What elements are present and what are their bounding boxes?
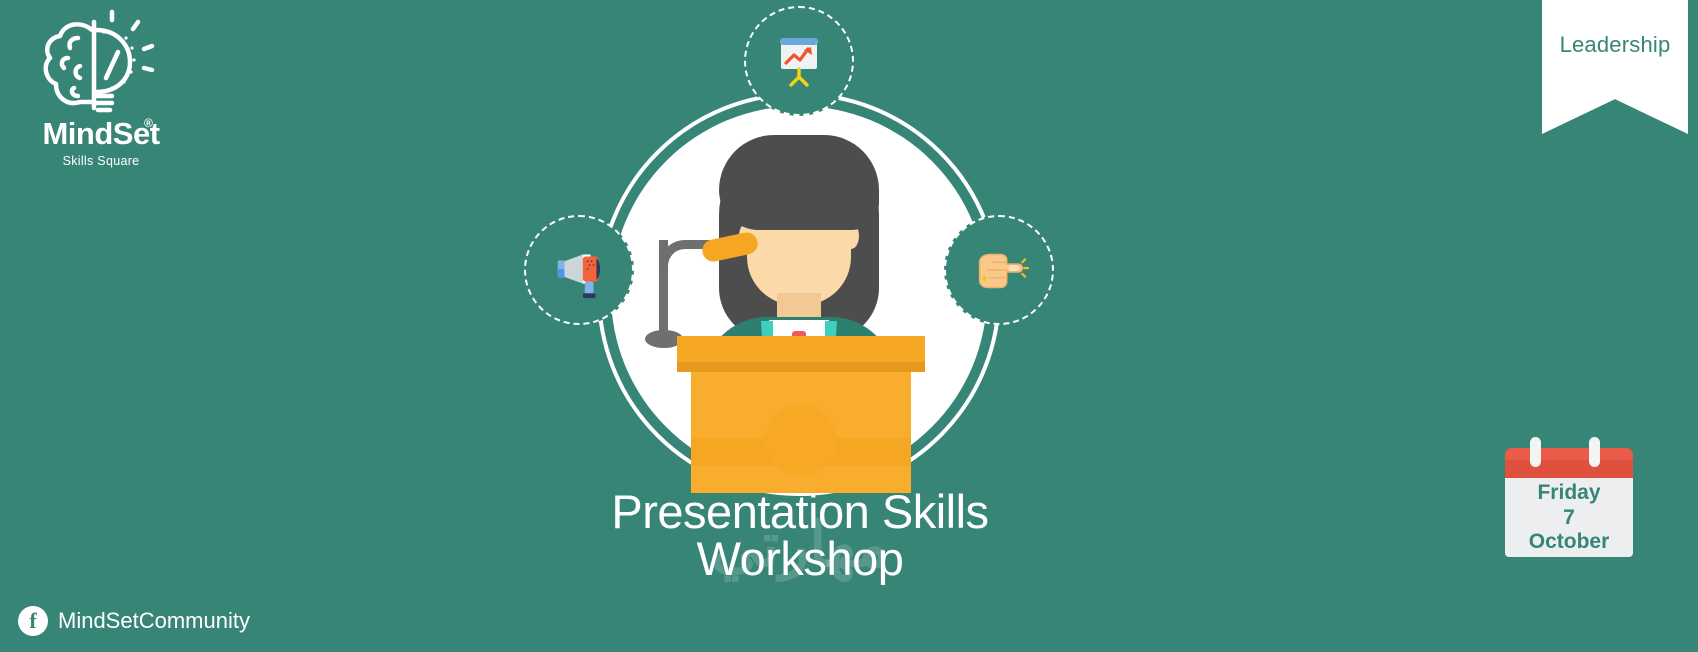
- brand-logo[interactable]: MindSet ® Skills Square: [16, 8, 186, 178]
- satellite-left[interactable]: [524, 215, 634, 325]
- podium: [677, 336, 925, 493]
- pointing-hand-icon: [946, 217, 1052, 323]
- event-title: مهارتي Presentation Skills Workshop: [430, 488, 1170, 582]
- event-title-line-1: Presentation Skills: [430, 488, 1170, 535]
- facebook-handle: MindSetCommunity: [58, 608, 250, 634]
- podium-top-shade: [677, 362, 925, 372]
- podium-seal: [765, 404, 837, 476]
- event-title-line-2: Workshop: [430, 535, 1170, 582]
- calendar-day: 7: [1563, 506, 1575, 530]
- calendar-weekday: Friday: [1537, 481, 1600, 505]
- registered-mark: ®: [144, 116, 153, 130]
- calendar-month: October: [1529, 530, 1610, 554]
- hero-illustration: [519, 0, 1079, 500]
- facebook-icon: f: [18, 606, 48, 636]
- calendar-ring-left: [1530, 437, 1541, 467]
- calendar-ring-right: [1589, 437, 1600, 467]
- brain-lightbulb-icon: [34, 8, 162, 120]
- calendar-body: Friday 7 October: [1505, 478, 1633, 557]
- event-date-calendar: Friday 7 October: [1505, 437, 1633, 557]
- satellite-right[interactable]: [944, 215, 1054, 325]
- brand-name: MindSet: [16, 116, 186, 152]
- facebook-link[interactable]: f MindSetCommunity: [18, 600, 250, 642]
- category-label: Leadership: [1542, 32, 1688, 58]
- presentation-chart-icon: [746, 8, 852, 114]
- brand-tagline: Skills Square: [16, 154, 186, 168]
- event-banner: MindSet ® Skills Square Leadership Frida…: [0, 0, 1698, 652]
- satellite-top[interactable]: [744, 6, 854, 116]
- category-ribbon: Leadership: [1542, 0, 1688, 134]
- calendar-header-highlight: [1505, 448, 1633, 460]
- megaphone-icon: [526, 217, 632, 323]
